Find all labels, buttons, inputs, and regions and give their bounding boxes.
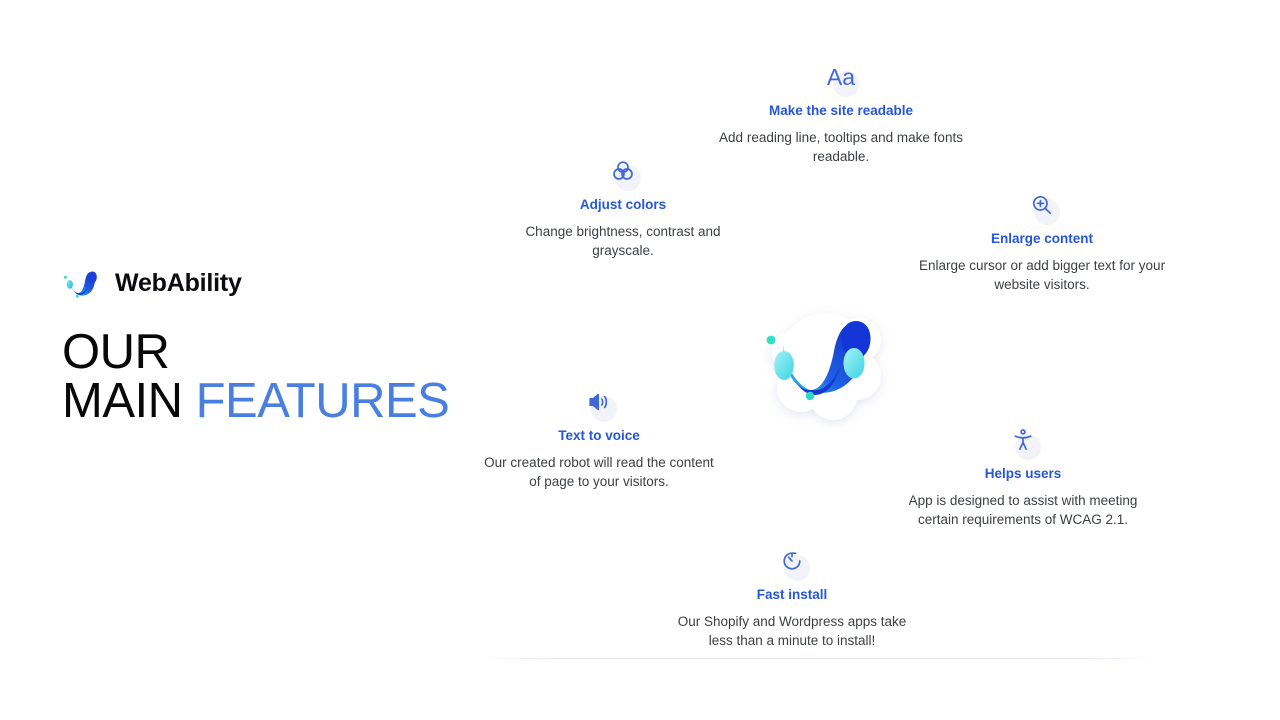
zoom-in-magnifier-icon	[1022, 185, 1062, 225]
feature-desc-voice: Our created robot will read the content …	[478, 453, 720, 491]
feature-item-readable[interactable]: Aa Make the site readable Add reading li…	[718, 57, 964, 167]
feature-title-colors: Adjust colors	[500, 197, 746, 213]
feature-desc-enlarge: Enlarge cursor or add bigger text for yo…	[918, 256, 1166, 294]
features-page: WebAbility OUR MAIN FEATURES Aa Make the…	[0, 0, 1280, 720]
feature-item-install[interactable]: Fast install Our Shopify and Wordpress a…	[668, 541, 916, 651]
feature-title-readable: Make the site readable	[718, 103, 964, 119]
feature-desc-helps: App is designed to assist with meeting c…	[900, 491, 1146, 529]
headline-line-2-plain: MAIN	[62, 374, 196, 428]
feature-title-voice: Text to voice	[478, 428, 720, 444]
brand-name: WebAbility	[115, 271, 242, 296]
headline-line-2: MAIN FEATURES	[62, 377, 482, 426]
feature-item-enlarge[interactable]: Enlarge content Enlarge cursor or add bi…	[918, 185, 1166, 295]
color-circles-icon	[603, 151, 643, 191]
webability-w-logo-icon	[62, 266, 102, 300]
feature-item-helps[interactable]: Helps users App is designed to assist wi…	[900, 420, 1146, 530]
headline-line-1: OUR	[62, 328, 482, 377]
brand-lockup[interactable]: WebAbility	[62, 262, 482, 304]
feature-title-helps: Helps users	[900, 466, 1146, 482]
feature-desc-readable: Add reading line, tooltips and make font…	[718, 128, 964, 166]
feature-title-install: Fast install	[668, 587, 916, 603]
bottom-divider	[482, 658, 1154, 659]
speaker-volume-icon	[579, 382, 619, 422]
feature-item-colors[interactable]: Adjust colors Change brightness, contras…	[500, 151, 746, 261]
feature-desc-colors: Change brightness, contrast and grayscal…	[500, 222, 746, 260]
headline-line-2-accent: FEATURES	[196, 374, 450, 428]
accessibility-person-icon	[1003, 420, 1043, 460]
feature-title-enlarge: Enlarge content	[918, 231, 1166, 247]
brand-headline-block: WebAbility OUR MAIN FEATURES	[62, 262, 482, 425]
aa-text-glyph: Aa	[827, 66, 855, 89]
aa-text-icon: Aa	[821, 57, 861, 97]
feature-item-voice[interactable]: Text to voice Our created robot will rea…	[478, 382, 720, 492]
webability-cloud-emblem-icon	[755, 296, 895, 428]
stopwatch-timer-icon	[772, 541, 812, 581]
feature-desc-install: Our Shopify and Wordpress apps take less…	[668, 612, 916, 650]
page-title: OUR MAIN FEATURES	[62, 328, 482, 425]
